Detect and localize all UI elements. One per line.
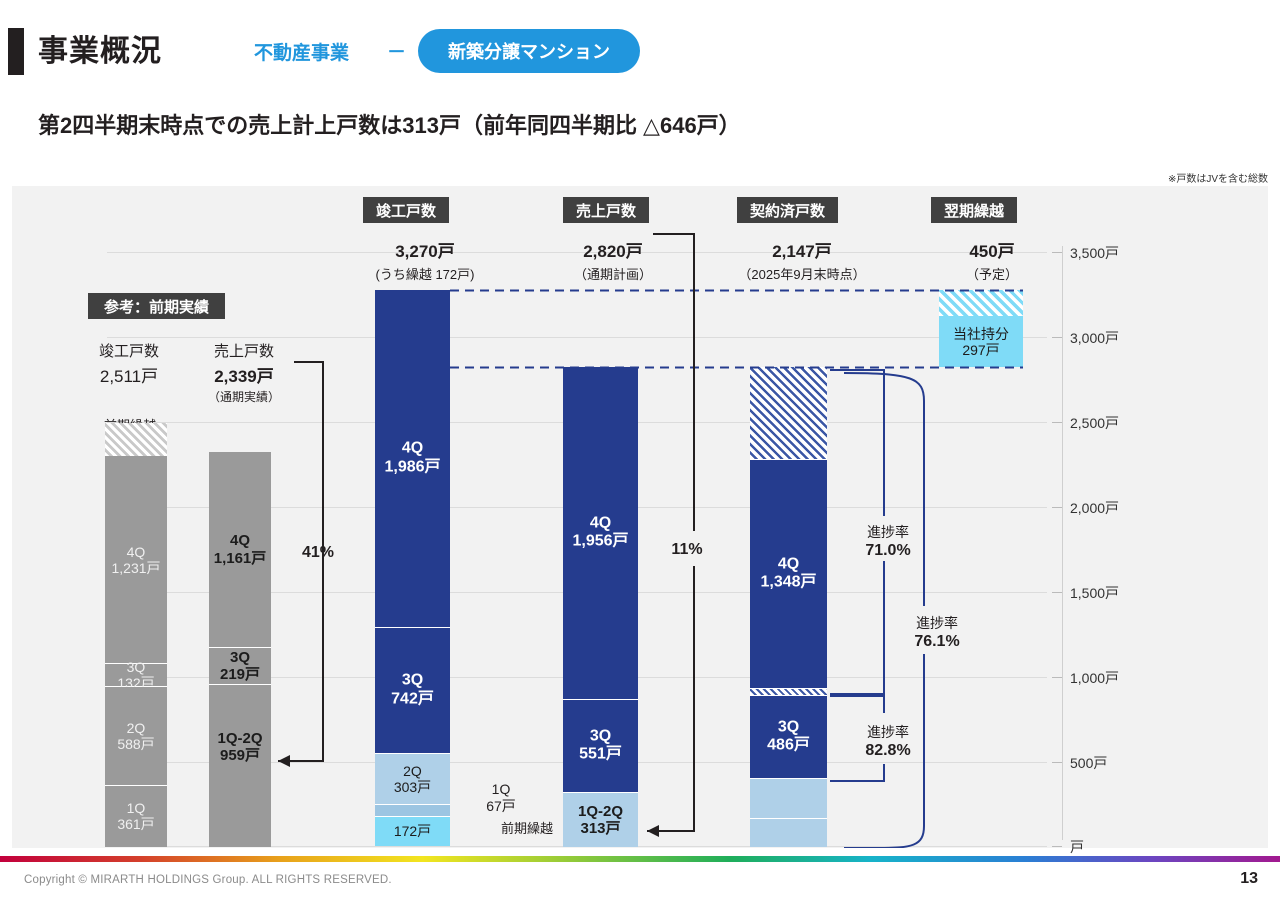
total-sales-value: 2,820戸: [583, 242, 643, 261]
ylabel-500: 500戸: [1070, 753, 1107, 773]
bar-carryforward-seg-hatch: [939, 290, 1023, 316]
bar-sales-1q2q-label: 1Q-2Q: [578, 803, 623, 820]
jv-note: ※戸数はJVを含む総数: [1168, 170, 1268, 185]
tag-sales: 売上戸数: [563, 197, 649, 223]
bar-completions-seg-1q: [375, 805, 450, 816]
ref-bar2-seg-1q2q: 1Q-2Q 959戸: [209, 685, 271, 847]
page-number: 13: [1240, 870, 1258, 888]
bracket-82-bottom: [830, 764, 884, 781]
bar-sales-seg-3q: 3Q 551戸: [563, 700, 638, 794]
ref-col-completions: 竣工戸数 2,511戸: [64, 340, 194, 387]
arrow-41-head: [278, 755, 290, 767]
ref-bar1-1q-caption: 1Q 361戸: [117, 800, 154, 832]
total-contracted: 2,147戸 （2025年9月末時点）: [707, 237, 897, 283]
progress-rate-82-value: 82.8%: [845, 741, 931, 762]
total-carryforward-note: （予定）: [912, 264, 1072, 283]
bar-completions-2q-label: 2Q: [394, 763, 431, 779]
progress-rate-76-value: 76.1%: [894, 632, 980, 653]
bar-sales-3q-value: 551戸: [579, 746, 622, 764]
pct-sales-11: 11%: [652, 541, 722, 559]
bar-sales-4q-value: 1,956戸: [572, 533, 628, 551]
bar-carryforward-own-caption: 当社持分 297戸: [953, 326, 1009, 358]
arrow-41-elbow: [278, 750, 323, 761]
callout-1q-67: 1Q 67戸: [466, 781, 536, 815]
bar-completions-seg-carry: 172戸: [375, 817, 450, 846]
progress-rate-76: 進捗率 76.1%: [894, 614, 980, 653]
progress-rate-76-title: 進捗率: [916, 615, 958, 631]
bar-contracted-seg-q2: [750, 779, 827, 819]
total-contracted-note: （2025年9月末時点）: [707, 264, 897, 283]
bar-contracted-seg-hatch-top: [750, 367, 827, 460]
tag-completions: 竣工戸数: [363, 197, 449, 223]
progress-rate-71: 進捗率 71.0%: [845, 523, 931, 562]
bar-carryforward-seg-own: 当社持分 297戸: [939, 316, 1023, 367]
bracket-82-top: [830, 696, 884, 713]
callout-1q-value: 67戸: [486, 798, 516, 814]
bracket-71-top: [830, 370, 884, 516]
bar-completions-3q-caption: 3Q 742戸: [391, 672, 434, 709]
ytick-1500: [1052, 592, 1062, 593]
bar-completions-seg-2q: 2Q 303戸: [375, 754, 450, 806]
bar-completions-4q-label: 4Q: [384, 440, 440, 458]
category-pill: 新築分譲マンション: [418, 29, 640, 73]
ytick-2500: [1052, 422, 1062, 423]
bar-contracted-4q-label: 4Q: [760, 556, 816, 574]
bar-contracted-3q-caption: 3Q 486戸: [767, 719, 810, 756]
ref-bar1-4q-label: 4Q: [111, 544, 160, 560]
bar-sales-3q-label: 3Q: [579, 728, 622, 746]
ytick-1000: [1052, 677, 1062, 678]
ref-bar1-1q-value: 361戸: [117, 816, 154, 832]
ytick-0: [1052, 846, 1062, 847]
total-carryforward: 450戸 （予定）: [912, 237, 1072, 283]
total-carryforward-value: 450戸: [969, 242, 1014, 261]
bar-contracted-seg-q1: [750, 819, 827, 847]
bar-contracted-seg-hatch-mid: [750, 689, 827, 696]
page-title: 事業概況: [38, 26, 162, 70]
bar-completions-2q-value: 303戸: [394, 779, 431, 795]
y-axis-spine: [1062, 246, 1063, 840]
bar-completions-3q-value: 742戸: [391, 690, 434, 708]
bar-completions-2q-caption: 2Q 303戸: [394, 763, 431, 795]
slide-root: 事業概況 不動産事業 － 新築分譲マンション 第2四半期末時点での売上計上戸数は…: [0, 0, 1280, 904]
arrow-11-elbow: [647, 566, 694, 831]
ref-bar1-seg-carry: [105, 423, 167, 457]
ref-bar2-4q-value: 1,161戸: [214, 549, 267, 566]
ref-bar2-3q-caption: 3Q 219戸: [220, 649, 260, 684]
ylabel-1500: 1,500戸: [1070, 583, 1119, 603]
gridline-3000: [107, 337, 1047, 338]
ref-bar1-2q-label: 2Q: [117, 720, 154, 736]
chart-panel: 3,500戸 3,000戸 2,500戸 2,000戸 1,500戸 1,000…: [12, 186, 1268, 848]
bar-completions-4q-value: 1,986戸: [384, 458, 440, 476]
ref-bar1-seg-2q: 2Q 588戸: [105, 687, 167, 786]
bar-carryforward-own-value: 297戸: [953, 342, 1009, 358]
bar-sales-1q2q-value: 313戸: [578, 820, 623, 837]
ref-sales-name: 売上戸数: [214, 343, 274, 360]
callout-carryforward: 前期繰越: [482, 821, 572, 837]
bar-carryforward-own-label: 当社持分: [953, 326, 1009, 342]
total-sales-note: （通期計画）: [533, 264, 693, 283]
ref-bar1-seg-1q: 1Q 361戸: [105, 786, 167, 847]
bracket-71-bottom: [830, 561, 884, 694]
ref-completions-total: 2,511戸: [64, 362, 194, 387]
ref-bar1-2q-value: 588戸: [117, 736, 154, 752]
progress-rate-71-title: 進捗率: [867, 524, 909, 540]
ref-bar2-1q2q-value: 959戸: [217, 747, 262, 764]
reference-tag: 参考：前期実績: [88, 293, 225, 319]
footer-rainbow-bar: [0, 856, 1280, 862]
bar-sales-4q-caption: 4Q 1,956戸: [572, 515, 628, 552]
ref-bar2-seg-4q: 4Q 1,161戸: [209, 452, 271, 648]
ref-col-sales: 売上戸数 2,339戸 （通期実績）: [179, 340, 309, 405]
ref-bar2-1q2q-label: 1Q-2Q: [217, 729, 262, 746]
ylabel-2000: 2,000戸: [1070, 498, 1119, 518]
bar-completions-seg-4q: 4Q 1,986戸: [375, 290, 450, 628]
bar-sales-3q-caption: 3Q 551戸: [579, 728, 622, 765]
ylabel-3000: 3,000戸: [1070, 328, 1119, 348]
ytick-3000: [1052, 337, 1062, 338]
total-completions: 3,270戸 (うち繰越 172戸): [345, 237, 505, 283]
ytick-500: [1052, 762, 1062, 763]
bar-completions-3q-label: 3Q: [391, 672, 434, 690]
ylabel-1000: 1,000戸: [1070, 668, 1119, 688]
bar-contracted-seg-4q: 4Q 1,348戸: [750, 460, 827, 689]
ytick-2000: [1052, 507, 1062, 508]
ref-completions-name: 竣工戸数: [99, 343, 159, 360]
ref-bar1-4q-value: 1,231戸: [111, 560, 160, 576]
ref-bar1-seg-4q: 4Q 1,231戸: [105, 456, 167, 664]
chart-plot-area: 3,500戸 3,000戸 2,500戸 2,000戸 1,500戸 1,000…: [12, 186, 1268, 848]
ref-bar2-1q2q-caption: 1Q-2Q 959戸: [217, 729, 262, 764]
total-completions-note: (うち繰越 172戸): [345, 264, 505, 283]
ref-bar2-3q-value: 219戸: [220, 666, 260, 683]
ref-sales-note: （通期実績）: [179, 388, 309, 405]
bar-contracted-4q-value: 1,348戸: [760, 574, 816, 592]
pct-reference-41: 41%: [283, 544, 353, 562]
bar-contracted-seg-3q: 3Q 486戸: [750, 696, 827, 779]
title-accent-bar: [8, 28, 24, 75]
headline-text: 第2四半期末時点での売上計上戸数は313戸（前年同四半期比 △646戸）: [38, 108, 741, 140]
ref-bar2-4q-caption: 4Q 1,161戸: [214, 532, 267, 567]
arrow-11-head: [647, 825, 659, 837]
ref-bar2-3q-label: 3Q: [220, 649, 260, 666]
tag-carryforward: 翌期繰越: [931, 197, 1017, 223]
progress-rate-82: 進捗率 82.8%: [845, 723, 931, 762]
ref-bar1-1q-label: 1Q: [117, 800, 154, 816]
ref-bar1-2q-caption: 2Q 588戸: [117, 720, 154, 752]
bar-sales-1q2q-caption: 1Q-2Q 313戸: [578, 803, 623, 838]
bar-sales-seg-4q: 4Q 1,956戸: [563, 367, 638, 700]
tag-contracted: 契約済戸数: [737, 197, 838, 223]
total-sales: 2,820戸 （通期計画）: [533, 237, 693, 283]
bar-contracted-4q-caption: 4Q 1,348戸: [760, 556, 816, 593]
bar-completions-seg-3q: 3Q 742戸: [375, 628, 450, 754]
ref-bar2-4q-label: 4Q: [214, 532, 267, 549]
bar-contracted-3q-value: 486戸: [767, 737, 810, 755]
total-completions-value: 3,270戸: [395, 242, 455, 261]
ylabel-3500: 3,500戸: [1070, 243, 1119, 263]
bracket-76-top: [844, 373, 924, 606]
callout-1q-label: 1Q: [492, 781, 511, 797]
progress-rate-82-title: 進捗率: [867, 724, 909, 740]
ylabel-0: 戸: [1070, 837, 1084, 857]
copyright-text: Copyright © MIRARTH HOLDINGS Group. ALL …: [24, 874, 392, 886]
ref-sales-total: 2,339戸: [179, 362, 309, 387]
segment-dash: －: [387, 37, 406, 64]
bar-sales-4q-label: 4Q: [572, 515, 628, 533]
ref-bar1-seg-3q: 3Q 132戸: [105, 664, 167, 686]
bar-contracted-3q-label: 3Q: [767, 719, 810, 737]
bar-completions-4q-caption: 4Q 1,986戸: [384, 440, 440, 477]
bar-completions-carry-value: 172戸: [394, 823, 431, 839]
segment-label: 不動産事業: [254, 38, 349, 65]
total-contracted-value: 2,147戸: [772, 242, 832, 261]
ref-bar2-seg-3q: 3Q 219戸: [209, 648, 271, 685]
ylabel-2500: 2,500戸: [1070, 413, 1119, 433]
ref-bar1-4q-caption: 4Q 1,231戸: [111, 544, 160, 576]
bar-sales-seg-1q2q: 1Q-2Q 313戸: [563, 793, 638, 846]
progress-rate-71-value: 71.0%: [845, 541, 931, 562]
ref-bar1-3q-label: 3Q: [117, 659, 154, 675]
